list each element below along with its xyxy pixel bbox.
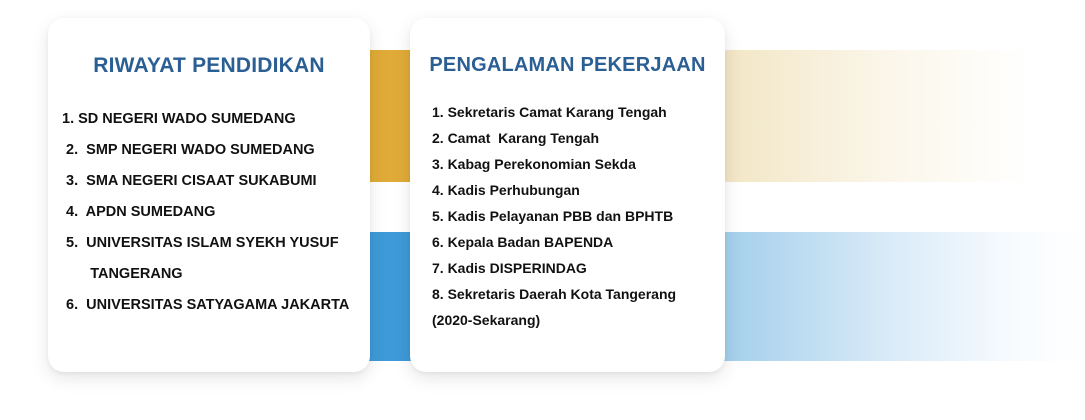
list-item: 6. UNIVERSITAS SATYAGAMA JAKARTA [62, 290, 370, 321]
education-card: RIWAYAT PENDIDIKAN 1. SD NEGERI WADO SUM… [48, 18, 370, 372]
list-item: 4. APDN SUMEDANG [62, 197, 370, 228]
list-item: 7. Kadis DISPERINDAG [432, 255, 725, 281]
list-item: 2. SMP NEGERI WADO SUMEDANG [62, 135, 370, 166]
education-list: 1. SD NEGERI WADO SUMEDANG 2. SMP NEGERI… [48, 104, 370, 321]
education-card-title: RIWAYAT PENDIDIKAN [48, 54, 370, 78]
list-item: 1. Sekretaris Camat Karang Tengah [432, 99, 725, 125]
list-item: 3. Kabag Perekonomian Sekda [432, 151, 725, 177]
experience-list: 1. Sekretaris Camat Karang Tengah 2. Cam… [410, 99, 725, 333]
list-item: 1. SD NEGERI WADO SUMEDANG [62, 104, 370, 135]
slide-canvas: RIWAYAT PENDIDIKAN 1. SD NEGERI WADO SUM… [0, 0, 1085, 420]
experience-card-title: PENGALAMAN PEKERJAAN [410, 54, 725, 77]
list-item: 5. UNIVERSITAS ISLAM SYEKH YUSUF TANGERA… [62, 228, 370, 290]
list-item: 3. SMA NEGERI CISAAT SUKABUMI [62, 166, 370, 197]
list-item: 6. Kepala Badan BAPENDA [432, 229, 725, 255]
list-item: 4. Kadis Perhubungan [432, 177, 725, 203]
list-item: 2. Camat Karang Tengah [432, 125, 725, 151]
list-item: 8. Sekretaris Daerah Kota Tangerang (202… [432, 281, 725, 333]
list-item: 5. Kadis Pelayanan PBB dan BPHTB [432, 203, 725, 229]
experience-card: PENGALAMAN PEKERJAAN 1. Sekretaris Camat… [410, 18, 725, 372]
